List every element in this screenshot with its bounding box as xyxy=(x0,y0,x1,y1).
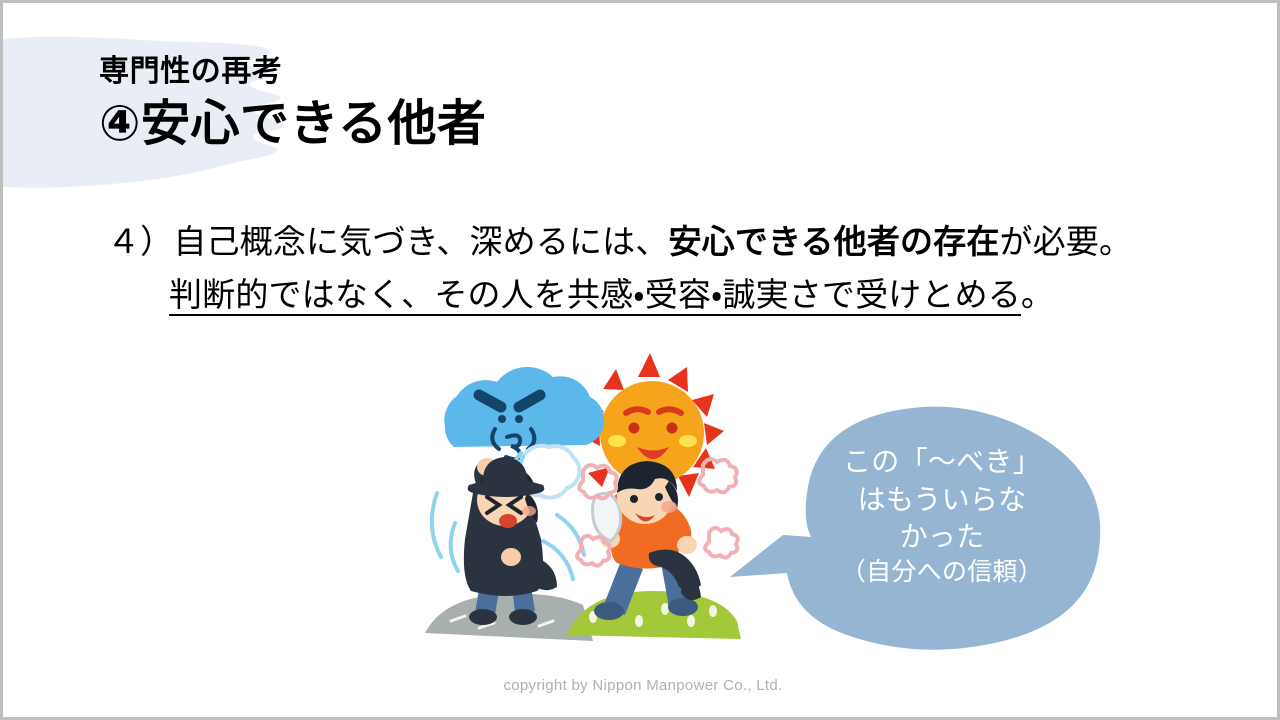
north-wind-and-sun-illustration xyxy=(407,345,747,657)
bubble-line-3: かった xyxy=(817,518,1067,556)
body-text-block: ４）自己概念に気づき、深めるには、安心できる他者の存在が必要。 判断的ではなく、… xyxy=(107,215,1197,322)
slide-canvas: 専門性の再考 ④安心できる他者 ４）自己概念に気づき、深めるには、安心できる他者… xyxy=(0,0,1280,720)
body-line-2: 判断的ではなく、その人を共感・受容・誠実さで受けとめる。 xyxy=(107,268,1197,321)
body-line-1-emphasis: 安心できる他者の存在 xyxy=(669,223,1000,260)
boy-taking-off-jacket xyxy=(567,461,741,639)
bubble-line-2: はもういらな xyxy=(817,481,1067,519)
bubble-text-group: この「～べき」 はもういらな かった （自分への信頼） xyxy=(817,443,1067,589)
body-line-1: ４）自己概念に気づき、深めるには、安心できる他者の存在が必要。 xyxy=(107,215,1197,268)
title-kicker: 専門性の再考 xyxy=(99,53,799,91)
body-line-2-tail: 。 xyxy=(1021,276,1054,313)
body-line-1-prefix: ４）自己概念に気づき、深めるには、 xyxy=(107,223,669,260)
page-title: ④安心できる他者 xyxy=(99,95,799,154)
bubble-line-4: （自分への信頼） xyxy=(817,556,1067,590)
body-line-1-suffix: が必要。 xyxy=(1000,223,1133,260)
body-line-2-underlined: 判断的ではなく、その人を共感・受容・誠実さで受けとめる xyxy=(169,276,1021,316)
angry-cloud-icon xyxy=(444,367,604,459)
speech-bubble: この「～べき」 はもういらな かった （自分への信頼） xyxy=(721,395,1141,661)
bubble-line-1: この「～べき」 xyxy=(817,443,1067,481)
header-text-group: 専門性の再考 ④安心できる他者 xyxy=(99,53,799,153)
copyright-footer: copyright by Nippon Manpower Co., Ltd. xyxy=(3,677,1280,694)
